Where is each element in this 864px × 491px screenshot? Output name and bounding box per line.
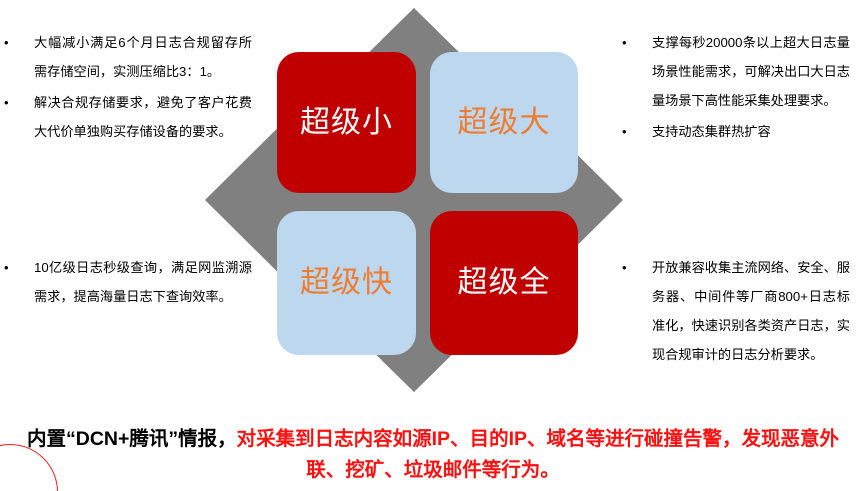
bullet-list-bottom-left: 10亿级日志秒级查询，满足网监溯源需求，提高海量日志下查询效率。	[0, 253, 252, 313]
caption-black-segment: 内置“DCN+腾讯”情报，	[27, 428, 237, 450]
slide-canvas: 超级小 超级大 超级快 超级全 大幅减小满足6个月日志合规留存所需存储空间，实测…	[0, 0, 864, 491]
card-super-small[interactable]: 超级小	[277, 52, 416, 193]
list-item: 支持动态集群热扩容	[618, 117, 850, 146]
card-super-fast[interactable]: 超级快	[277, 211, 416, 355]
card-super-complete-label: 超级全	[458, 268, 551, 298]
list-item: 大幅减小满足6个月日志合规留存所需存储空间，实测压缩比3：1。	[0, 28, 252, 86]
caption-red-segment: 对采集到日志内容如源IP、目的IP、域名等进行碰撞告警，发现恶意外联、挖矿、垃圾…	[237, 428, 839, 481]
card-super-large-label: 超级大	[458, 108, 551, 138]
list-item: 10亿级日志秒级查询，满足网监溯源需求，提高海量日志下查询效率。	[0, 253, 252, 311]
list-item: 支撑每秒20000条以上超大日志量场景性能需求，可解决出口大日志量场景下高性能采…	[618, 28, 850, 115]
card-super-small-label: 超级小	[300, 108, 393, 138]
card-super-complete[interactable]: 超级全	[430, 211, 578, 355]
bullet-list-top-right: 支撑每秒20000条以上超大日志量场景性能需求，可解决出口大日志量场景下高性能采…	[618, 28, 850, 148]
list-item: 开放兼容收集主流网络、安全、服务器、中间件等厂商800+日志标准化，快速识别各类…	[618, 253, 850, 369]
bottom-caption: 内置“DCN+腾讯”情报，对采集到日志内容如源IP、目的IP、域名等进行碰撞告警…	[22, 424, 844, 486]
card-super-large[interactable]: 超级大	[430, 52, 578, 193]
list-item: 解决合规存储要求，避免了客户花费大代价单独购买存储设备的要求。	[0, 88, 252, 146]
card-super-fast-label: 超级快	[300, 268, 393, 298]
bullet-list-top-left: 大幅减小满足6个月日志合规留存所需存储空间，实测压缩比3：1。 解决合规存储要求…	[0, 28, 252, 148]
bullet-list-bottom-right: 开放兼容收集主流网络、安全、服务器、中间件等厂商800+日志标准化，快速识别各类…	[618, 253, 850, 371]
